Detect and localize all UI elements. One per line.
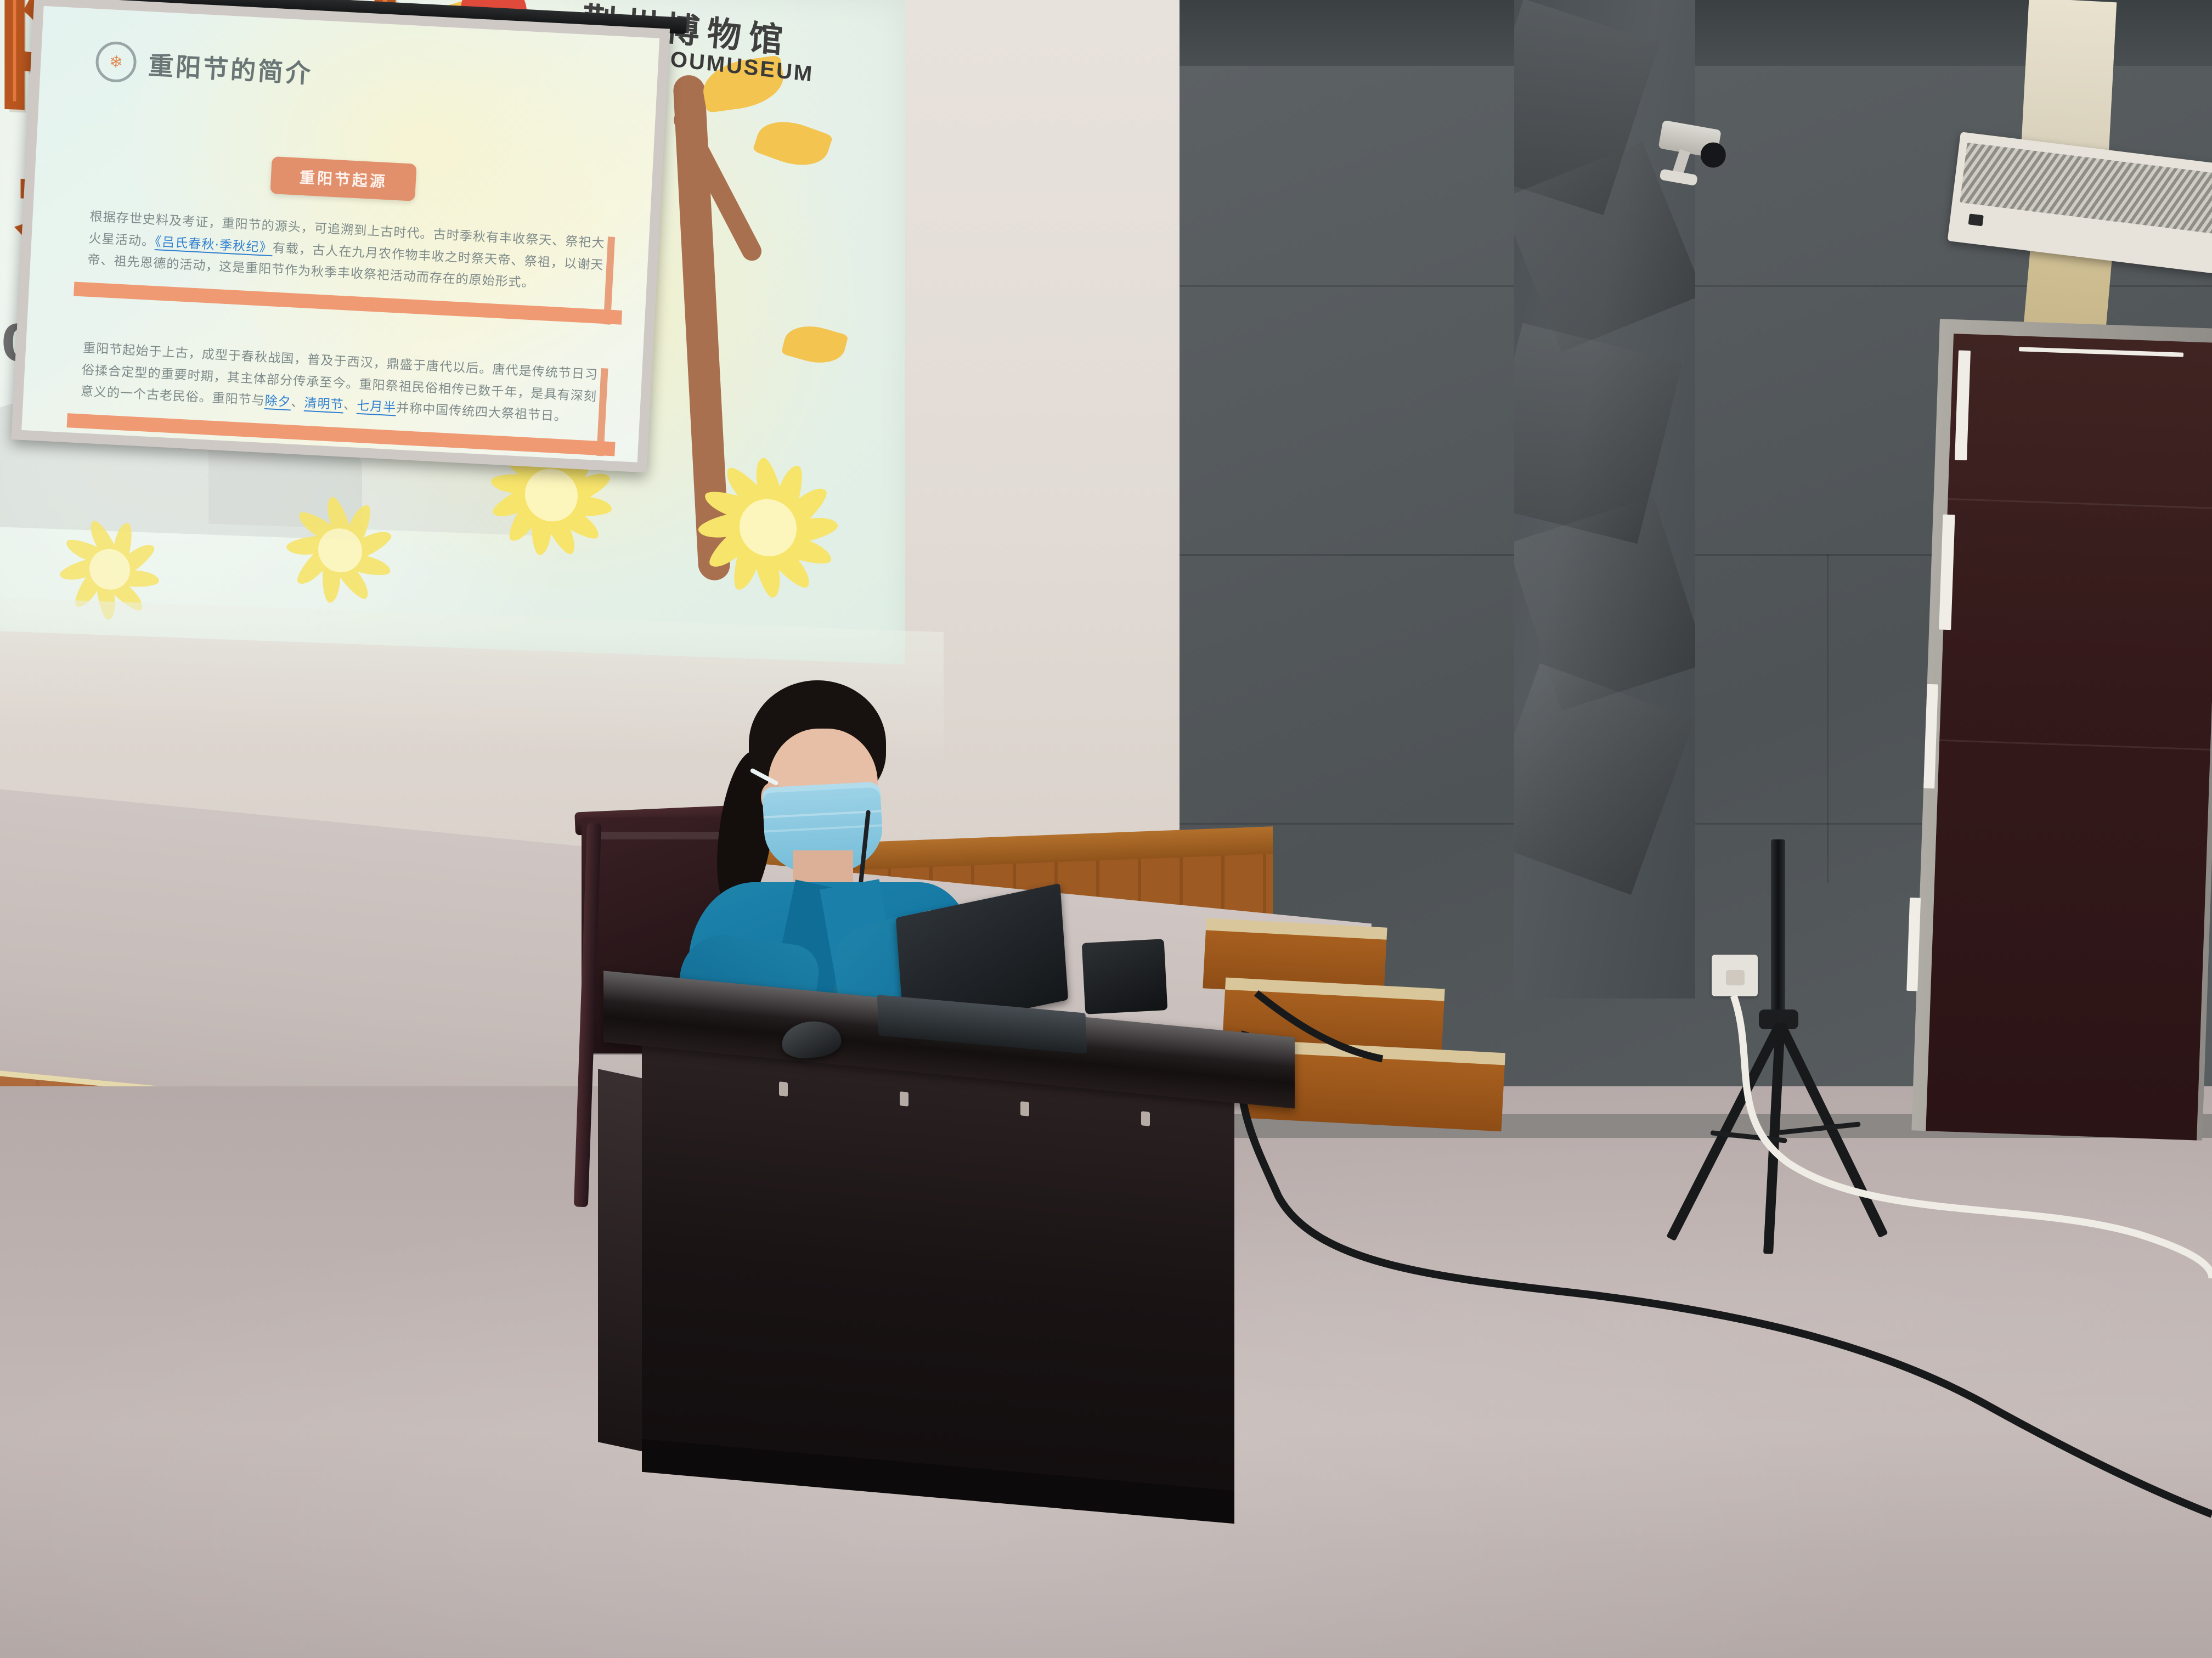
security-camera: [1652, 120, 1739, 198]
flower-icon: ❄: [95, 41, 138, 83]
door-frame: [1911, 319, 2212, 1141]
paragraph-2-link-3[interactable]: 七月半: [357, 399, 397, 416]
power-adapter: [1082, 939, 1168, 1014]
chrysanthemum-flower: [263, 471, 417, 630]
paragraph-2-link-1[interactable]: 除夕: [264, 394, 291, 410]
laptop-keyboard[interactable]: [877, 995, 1087, 1054]
camera-base: [1660, 169, 1698, 187]
chrysanthemum-flower: [669, 425, 867, 630]
wooden-door[interactable]: [1926, 334, 2212, 1140]
slide-title: 重阳节的简介: [148, 46, 314, 91]
lectern-desk: [603, 1004, 1295, 1591]
vent-indicator-icon: [1968, 213, 1984, 226]
lecture-hall-scene: 阳 节 老 情 2023年重阳节主题活动 荆州博物馆 JINGZHOUMUSEU…: [0, 0, 2212, 1658]
paragraph-2-post: 并称中国传统四大祭祖节日。: [396, 401, 568, 424]
screen-surface: ❄ 重阳节的简介 重阳节起源 根据存世史料及考证，重阳节的源头，可追溯到上古时代…: [11, 0, 670, 473]
paragraph-2-link-2[interactable]: 清明节: [304, 396, 344, 414]
tripod-stand: [1651, 872, 1904, 1267]
wall-power-outlet[interactable]: [1712, 955, 1758, 996]
paragraph-1-link[interactable]: 《吕氏春秋·季秋纪》: [155, 235, 273, 256]
laptop-computer[interactable]: [878, 900, 1108, 1064]
projection-screen: ❄ 重阳节的简介 重阳节起源 根据存世史料及考证，重阳节的源头，可追溯到上古时代…: [0, 0, 698, 500]
slide-section-badge: 重阳节起源: [270, 156, 416, 201]
tripod-center-post: [1771, 839, 1785, 1020]
desk-left-side: [598, 1069, 648, 1453]
presentation-slide: ❄ 重阳节的简介 重阳节起源 根据存世史料及考证，重阳节的源头，可追溯到上古时代…: [21, 6, 659, 463]
tripod-brace: [1779, 1121, 1861, 1135]
